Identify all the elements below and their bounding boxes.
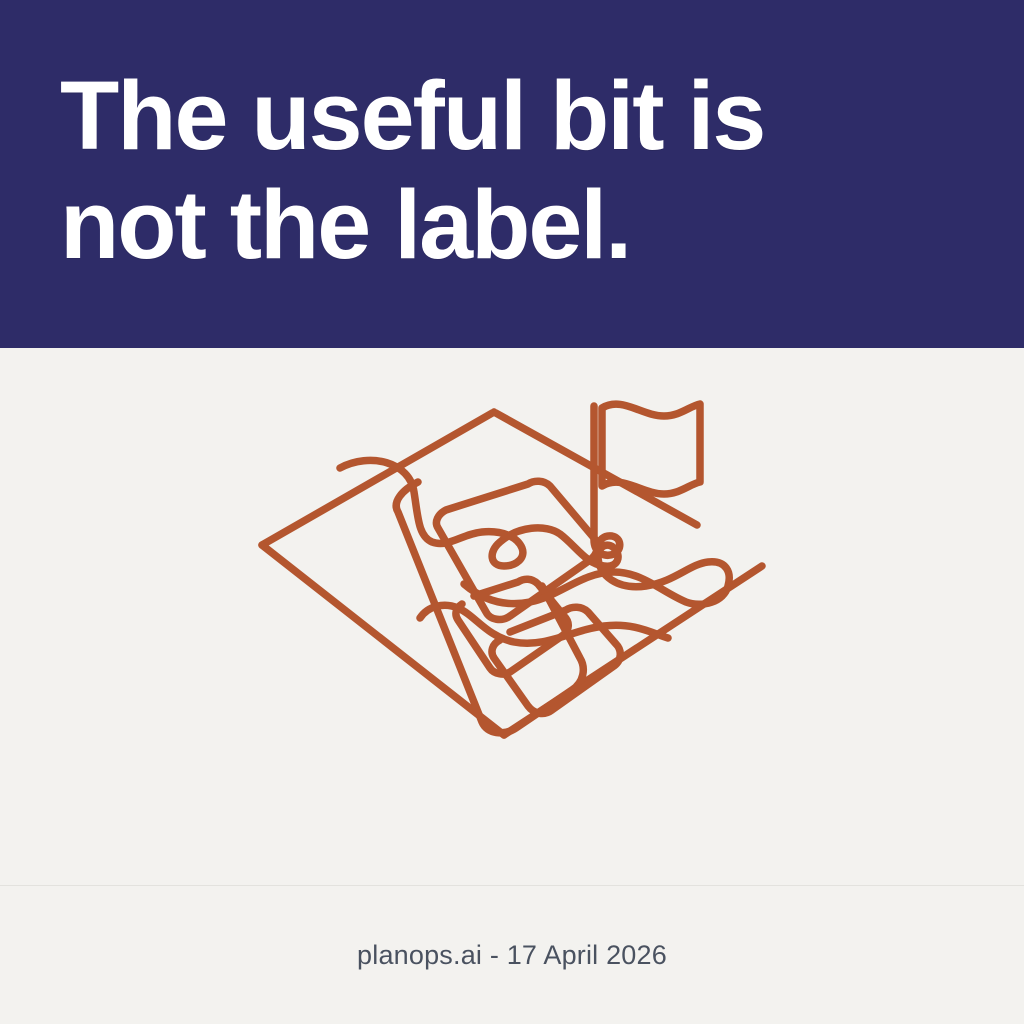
social-card: The useful bit is not the label. xyxy=(0,0,1024,1024)
header-band: The useful bit is not the label. xyxy=(0,0,1024,348)
isometric-map-with-flag-icon xyxy=(242,390,782,810)
map-plane-diamond xyxy=(262,412,697,545)
footer: planops.ai - 17 April 2026 xyxy=(0,886,1024,1024)
flag-banner xyxy=(602,404,700,494)
footer-attribution: planops.ai - 17 April 2026 xyxy=(357,940,667,971)
headline: The useful bit is not the label. xyxy=(60,62,964,279)
illustration-stage xyxy=(0,348,1024,885)
